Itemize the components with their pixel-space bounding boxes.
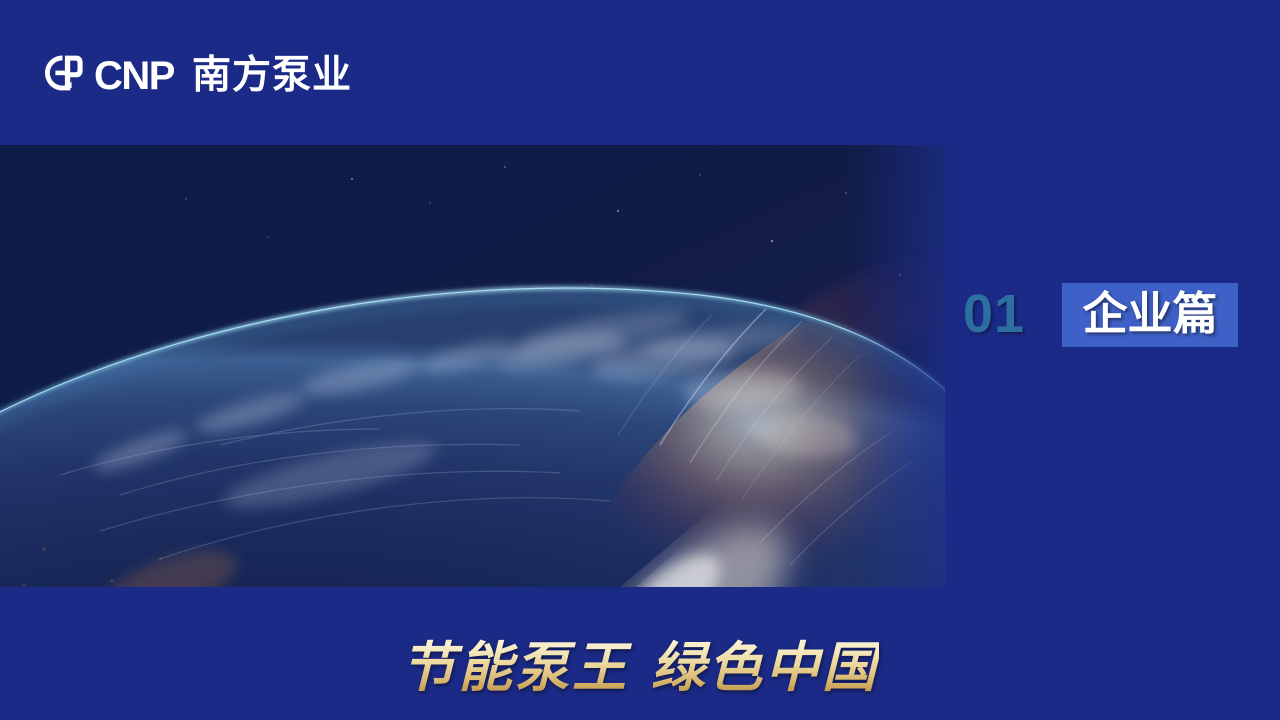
logo-brand-latin: CNP: [94, 54, 174, 98]
presentation-slide: CNP 南方泵业: [0, 0, 1280, 720]
section-title-highlight: 企业篇: [1062, 283, 1238, 347]
cnp-pump-monogram-icon: [42, 53, 84, 100]
section-number: 01: [963, 287, 1025, 341]
slide-footer: 节能泵王 绿色中国: [0, 628, 1280, 706]
section-marker: 01 企业篇: [945, 145, 1280, 587]
logo-brand-chinese: 南方泵业: [192, 54, 352, 98]
company-tagline: 节能泵王 绿色中国: [401, 634, 879, 700]
company-logo: CNP 南方泵业: [42, 52, 352, 100]
slide-header: CNP 南方泵业: [0, 0, 1280, 145]
earth-from-space-photo: [0, 145, 945, 587]
section-title: 企业篇: [1082, 290, 1217, 338]
